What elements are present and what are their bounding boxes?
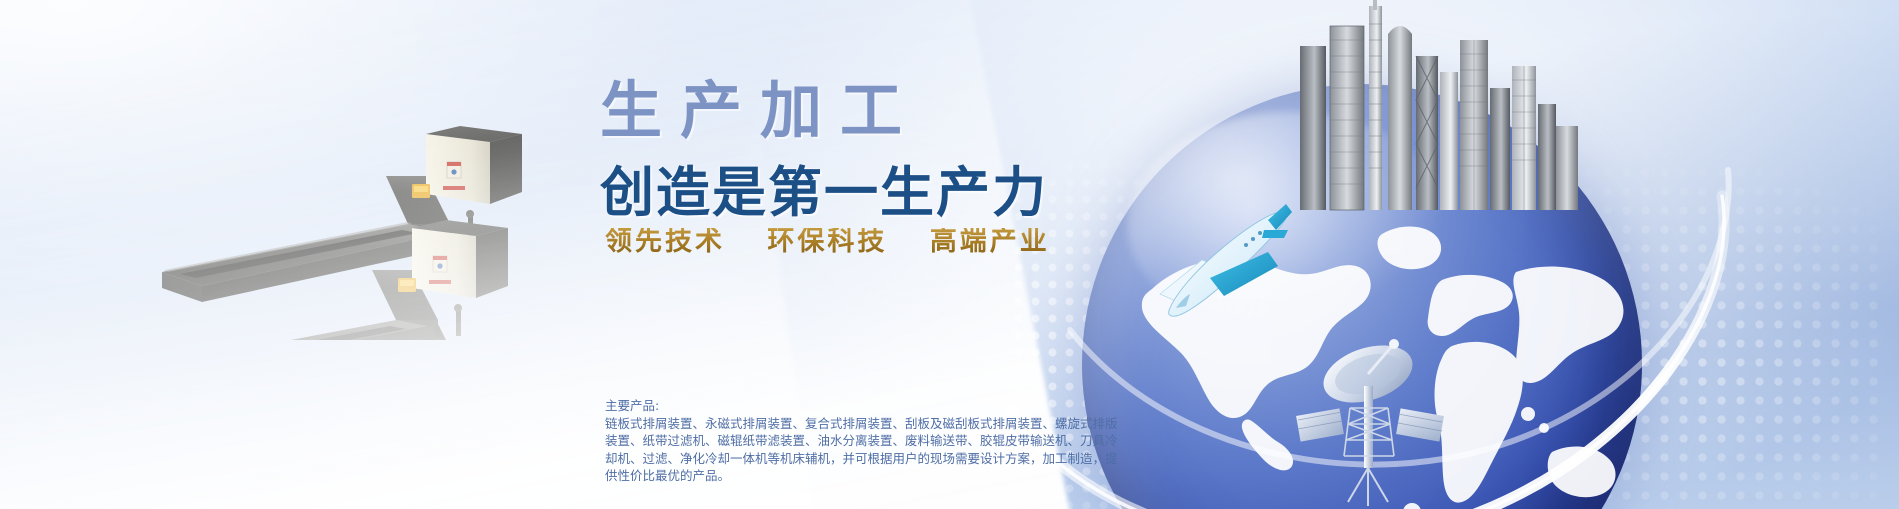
satellite-dish-icon — [1290, 330, 1480, 509]
tagline-item-2: 环保科技 — [767, 226, 887, 257]
tagline-group: 领先技术 环保科技 高端产业 — [605, 228, 1050, 255]
product-description-line: 供性价比最优的产品。 — [605, 467, 1305, 485]
tagline-item-1: 领先技术 — [605, 226, 725, 257]
product-description-line: 却机、过滤、净化冷却一体机等机床辅机，并可根据用户的现场需要设计方案，加工制造，… — [605, 450, 1305, 468]
product-description-label: 主要产品: — [605, 397, 1305, 415]
promotional-banner: 生产加工 创造是第一生产力 领先技术 环保科技 高端产业 主要产品: 链板式排屑… — [0, 0, 1899, 509]
product-description-line: 链板式排屑装置、永磁式排屑装置、复合式排屑装置、刮板及磁刮板式排屑装置、螺旋式排… — [605, 415, 1305, 433]
headline-subtitle: 创造是第一生产力 — [600, 166, 1048, 220]
page-title: 生产加工 — [600, 80, 920, 142]
tagline-item-3: 高端产业 — [930, 226, 1050, 257]
city-skyline-icon — [1290, 0, 1590, 230]
product-description: 主要产品: 链板式排屑装置、永磁式排屑装置、复合式排屑装置、刮板及磁刮板式排屑装… — [605, 397, 1305, 485]
airplane-icon — [1142, 190, 1292, 320]
product-description-line: 装置、纸带过滤机、磁辊纸带滤装置、油水分离装置、废料输送带、胶辊皮带输送机、刀具… — [605, 432, 1305, 450]
